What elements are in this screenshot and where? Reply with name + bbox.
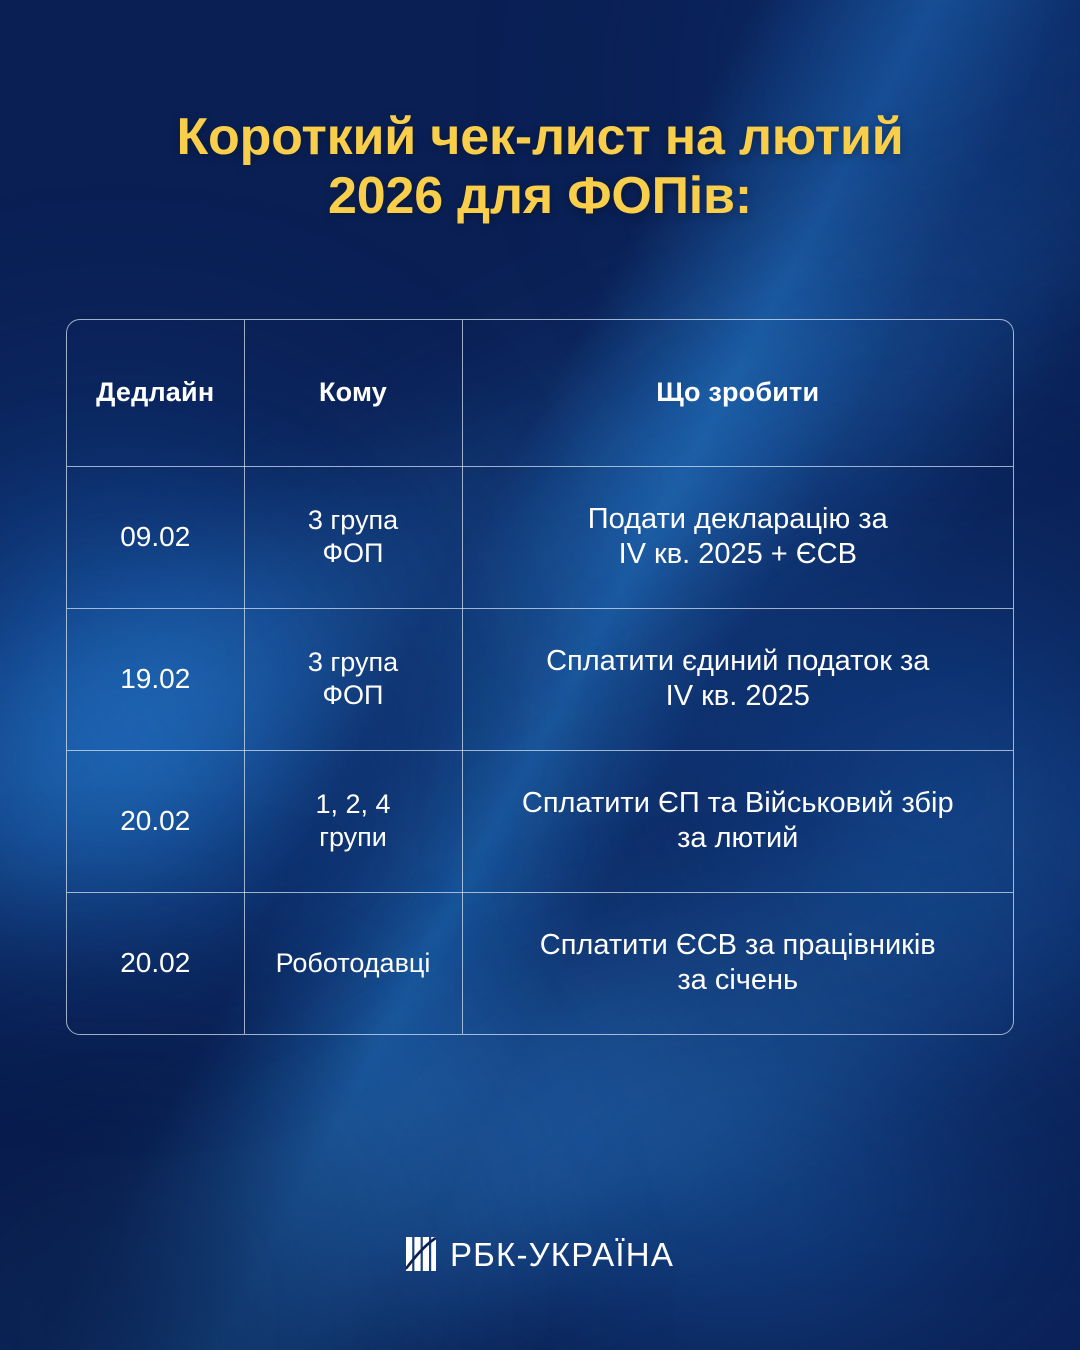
cell-what: Сплатити єдиний податок за IV кв. 2025 (462, 608, 1013, 750)
cell-deadline: 20.02 (67, 892, 244, 1034)
table-row: 09.02 3 група ФОП Подати декларацію за I… (67, 466, 1013, 608)
checklist-table: Дедлайн Кому Що зробити 09.02 3 група ФО… (67, 320, 1013, 1034)
table-body: 09.02 3 група ФОП Подати декларацію за I… (67, 466, 1013, 1034)
cell-who: 3 група ФОП (244, 608, 462, 750)
cell-who: Роботодавці (244, 892, 462, 1034)
table-row: 19.02 3 група ФОП Сплатити єдиний подато… (67, 608, 1013, 750)
cell-who: 3 група ФОП (244, 466, 462, 608)
cell-what: Сплатити ЄСВ за працівників за січень (462, 892, 1013, 1034)
table-header-row: Дедлайн Кому Що зробити (67, 320, 1013, 466)
cell-deadline: 20.02 (67, 750, 244, 892)
cell-what: Сплатити ЄП та Військовий збір за лютий (462, 750, 1013, 892)
table-row: 20.02 1, 2, 4 групи Сплатити ЄП та Війсь… (67, 750, 1013, 892)
brand-logo: РБК-УКРАЇНА (0, 1237, 1080, 1271)
checklist-table-container: Дедлайн Кому Що зробити 09.02 3 група ФО… (66, 319, 1014, 1035)
table-header: Дедлайн Кому Що зробити (67, 320, 1013, 466)
column-header-deadline: Дедлайн (67, 320, 244, 466)
column-header-who: Кому (244, 320, 462, 466)
brand-logo-text: РБК-УКРАЇНА (450, 1238, 674, 1271)
table-row: 20.02 Роботодавці Сплатити ЄСВ за праців… (67, 892, 1013, 1034)
poster-content: Короткий чек-лист на лютий 2026 для ФОПі… (0, 0, 1080, 1350)
cell-deadline: 09.02 (67, 466, 244, 608)
cell-who: 1, 2, 4 групи (244, 750, 462, 892)
cell-what: Подати декларацію за IV кв. 2025 + ЄСВ (462, 466, 1013, 608)
cell-deadline: 19.02 (67, 608, 244, 750)
page-title: Короткий чек-лист на лютий 2026 для ФОПі… (0, 108, 1080, 227)
rbc-bars-icon (406, 1237, 436, 1271)
column-header-what: Що зробити (462, 320, 1013, 466)
